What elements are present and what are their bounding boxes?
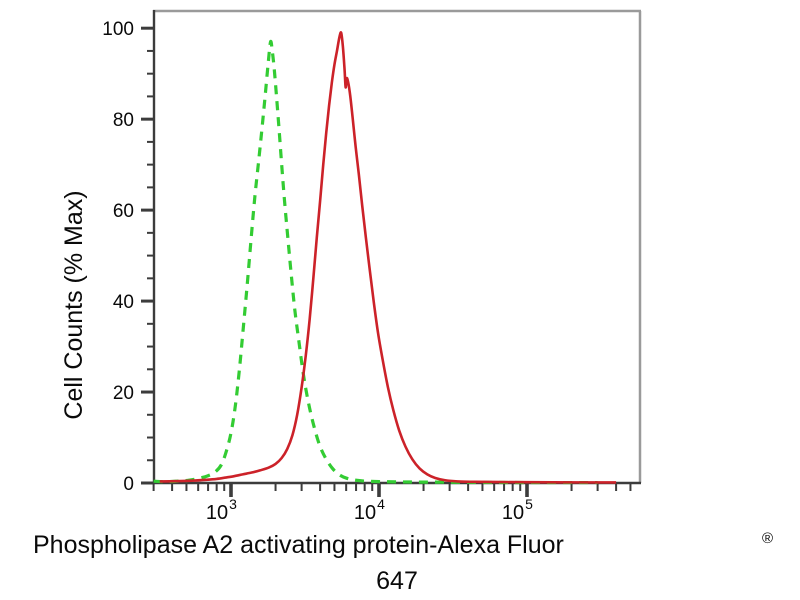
y-tick-label: 20 xyxy=(113,383,134,404)
x-axis-title-line2: 647 xyxy=(376,567,418,595)
flow-cytometry-histogram: 020406080100 103104105 Cell Counts (% Ma… xyxy=(0,0,800,600)
x-axis-title-line1: Phospholipase A2 activating protein-Alex… xyxy=(33,531,564,559)
y-tick-label: 60 xyxy=(113,201,134,222)
y-axis-ticks: 020406080100 xyxy=(102,19,154,495)
y-tick-label: 0 xyxy=(123,474,134,495)
plot-background xyxy=(153,10,641,483)
x-axis-title: Phospholipase A2 activating protein-Alex… xyxy=(33,530,773,595)
x-tick-label-base: 10 xyxy=(502,502,524,524)
x-tick-label-base: 10 xyxy=(354,502,376,524)
x-tick-label-exponent: 3 xyxy=(229,496,237,512)
x-tick-label-base: 10 xyxy=(206,502,228,524)
y-axis-title: Cell Counts (% Max) xyxy=(60,190,88,419)
y-axis-title-text: Cell Counts (% Max) xyxy=(60,190,88,419)
x-tick-label-exponent: 5 xyxy=(525,496,533,512)
x-axis-tick-labels: 103104105 xyxy=(206,496,533,524)
y-tick-label: 40 xyxy=(113,292,134,313)
x-axis-ticks xyxy=(154,483,631,497)
y-tick-label: 100 xyxy=(102,19,134,40)
x-tick-label-exponent: 4 xyxy=(377,496,385,512)
x-axis-title-superscript: ® xyxy=(762,530,773,547)
y-tick-label: 80 xyxy=(113,110,134,131)
